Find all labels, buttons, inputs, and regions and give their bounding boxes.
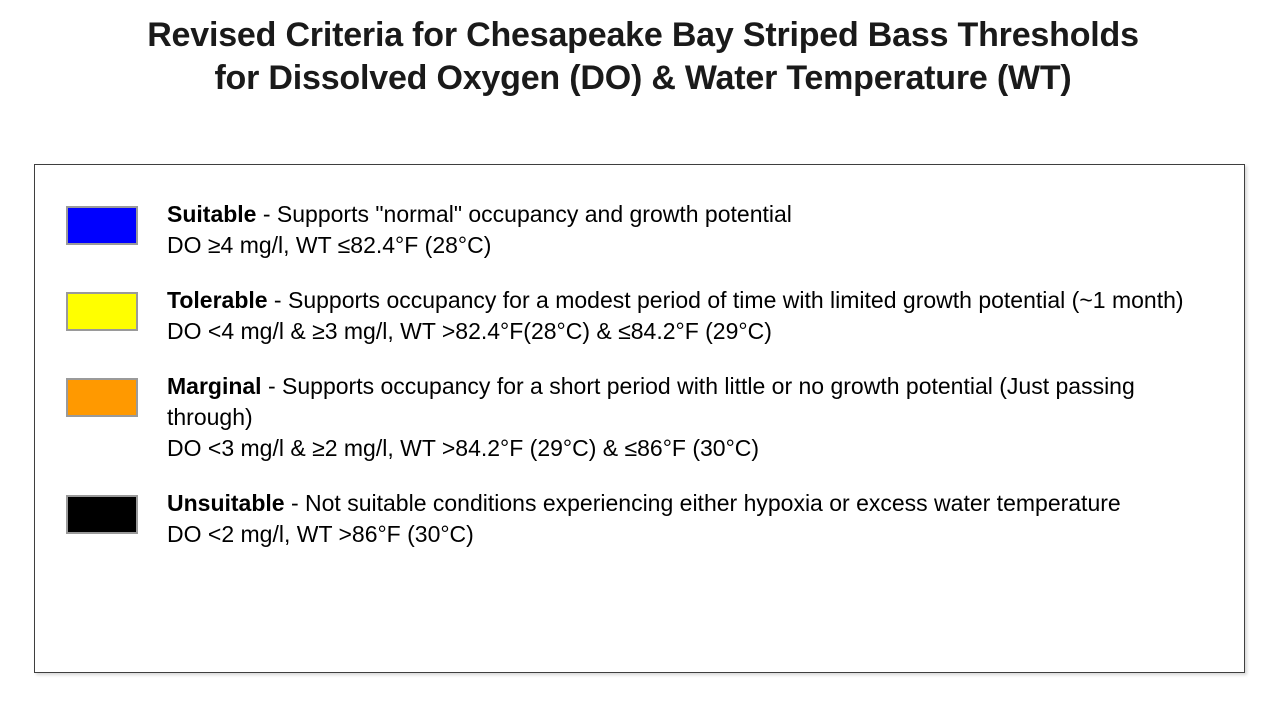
color-swatch-orange — [66, 378, 138, 417]
legend-term: Marginal — [167, 373, 262, 399]
legend-item-suitable: Suitable - Supports "normal" occupancy a… — [66, 199, 1226, 261]
color-swatch-black — [66, 495, 138, 534]
legend-separator: - — [262, 373, 282, 399]
legend-item-text: Tolerable - Supports occupancy for a mod… — [167, 285, 1225, 347]
legend-item-tolerable: Tolerable - Supports occupancy for a mod… — [66, 285, 1226, 347]
legend-description: Supports occupancy for a short period wi… — [167, 373, 1135, 430]
legend-term: Suitable — [167, 201, 256, 227]
color-swatch-yellow — [66, 292, 138, 331]
legend-description-line: Suitable - Supports "normal" occupancy a… — [167, 199, 1225, 230]
legend-description-line: Tolerable - Supports occupancy for a mod… — [167, 285, 1225, 316]
legend-spec: DO <3 mg/l & ≥2 mg/l, WT >84.2°F (29°C) … — [167, 433, 1225, 464]
page-title-line-2: for Dissolved Oxygen (DO) & Water Temper… — [0, 57, 1286, 100]
legend-separator: - — [256, 201, 276, 227]
legend-item-unsuitable: Unsuitable - Not suitable conditions exp… — [66, 488, 1226, 550]
legend-term: Unsuitable — [167, 490, 285, 516]
legend-separator: - — [285, 490, 305, 516]
legend-item-text: Marginal - Supports occupancy for a shor… — [167, 371, 1225, 464]
legend-spec: DO <2 mg/l, WT >86°F (30°C) — [167, 519, 1225, 550]
legend-description: Not suitable conditions experiencing eit… — [305, 490, 1121, 516]
legend-spec: DO ≥4 mg/l, WT ≤82.4°F (28°C) — [167, 230, 1225, 261]
legend-description-line: Unsuitable - Not suitable conditions exp… — [167, 488, 1225, 519]
legend-description: Supports occupancy for a modest period o… — [288, 287, 1184, 313]
legend-panel: Suitable - Supports "normal" occupancy a… — [34, 164, 1245, 673]
legend-term: Tolerable — [167, 287, 268, 313]
legend-item-text: Suitable - Supports "normal" occupancy a… — [167, 199, 1225, 261]
slide-canvas: Revised Criteria for Chesapeake Bay Stri… — [0, 0, 1286, 716]
page-title: Revised Criteria for Chesapeake Bay Stri… — [0, 14, 1286, 100]
legend-description: Supports "normal" occupancy and growth p… — [277, 201, 792, 227]
color-swatch-blue — [66, 206, 138, 245]
legend-item-marginal: Marginal - Supports occupancy for a shor… — [66, 371, 1226, 464]
legend-spec: DO <4 mg/l & ≥3 mg/l, WT >82.4°F(28°C) &… — [167, 316, 1225, 347]
legend-list: Suitable - Supports "normal" occupancy a… — [66, 199, 1226, 550]
page-title-line-1: Revised Criteria for Chesapeake Bay Stri… — [0, 14, 1286, 57]
legend-separator: - — [268, 287, 288, 313]
legend-description-line: Marginal - Supports occupancy for a shor… — [167, 371, 1225, 433]
legend-item-text: Unsuitable - Not suitable conditions exp… — [167, 488, 1225, 550]
